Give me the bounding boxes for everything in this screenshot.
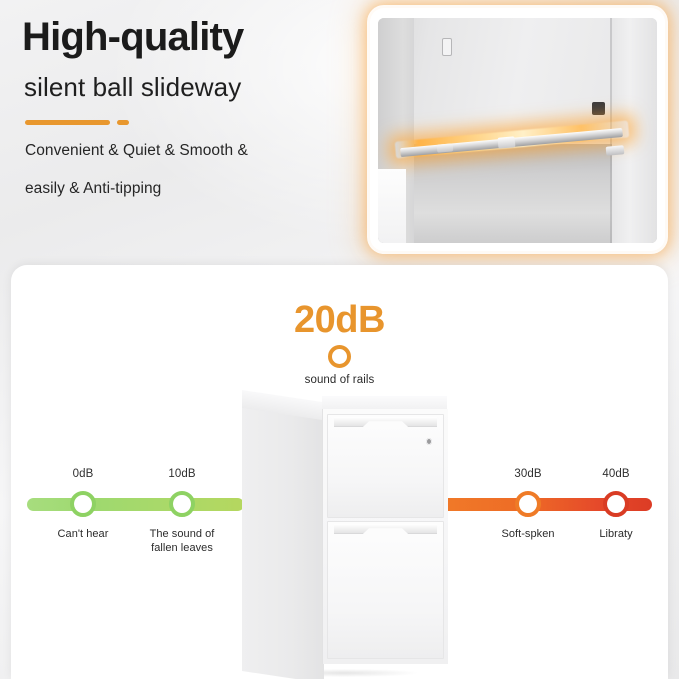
cabinet-drawer-top [327,414,444,518]
header-text-block: High-quality silent ball slideway Conven… [22,14,352,196]
scale-bar-quiet [27,498,244,511]
cabinet-lock-icon [426,438,432,445]
cabinet-drawer-pull-bottom [334,524,437,534]
cabinet-side-panel [242,403,324,679]
feature-line-2: easily & Anti-tipping [25,181,352,197]
photo-cabinet-lock-icon [592,102,605,115]
photo-cabinet-handle [442,38,452,56]
scale-value-0db: 0dB [38,468,128,480]
accent-divider [25,120,352,125]
scale-node-10db [169,491,195,517]
rail-noise-callout: 20dB sound of rails [11,301,668,386]
product-photo-frame [370,8,665,251]
product-photo [378,18,657,243]
noise-comparison-card: 20dB sound of rails 0dB Can't hear 10dB … [11,265,668,679]
cabinet-drawer-bottom [327,521,444,659]
photo-rail-clip-left [436,143,453,152]
scale-label-0db: Can't hear [28,528,138,542]
scale-label-40db: Libraty [561,528,671,542]
scale-value-30db: 30dB [483,468,573,480]
scale-node-40db [603,491,629,517]
callout-ring-icon [328,345,351,368]
callout-value: 20dB [11,301,668,339]
scale-node-30db [515,491,541,517]
photo-rail-clip-right [605,145,624,156]
scale-value-40db: 40dB [571,468,661,480]
photo-cabinet-base [378,169,406,243]
feature-line-1: Convenient & Quiet & Smooth & [25,143,352,159]
infographic-page: High-quality silent ball slideway Conven… [0,0,679,679]
cabinet-front-face [322,409,448,664]
photo-rail-clip-center [498,137,516,149]
page-subtitle: silent ball slideway [24,72,352,103]
scale-value-10db: 10dB [137,468,227,480]
divider-long-segment [25,120,110,125]
divider-short-segment [117,120,129,125]
file-cabinet-illustration [236,385,451,675]
scale-node-0db [70,491,96,517]
cabinet-drawer-pull-top [334,417,437,427]
cabinet-top-front [322,396,447,410]
scale-label-10db: The sound of fallen leaves [127,528,237,556]
page-title: High-quality [22,14,352,60]
